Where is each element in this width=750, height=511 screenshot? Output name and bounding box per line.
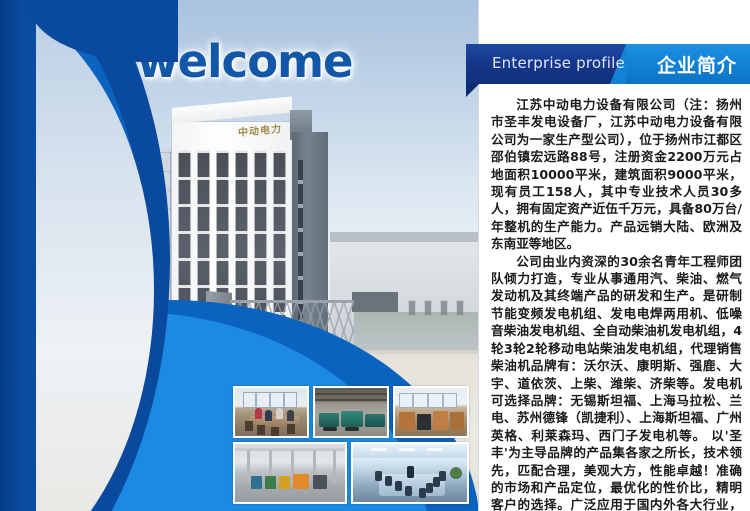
left-navy-band	[0, 0, 36, 511]
banner-corner-tail	[466, 84, 479, 97]
panel-top-spacer	[479, 0, 750, 40]
warehouse-roof	[330, 232, 478, 242]
photo-collage	[233, 386, 469, 504]
company-profile-banner: 中动电力 江苏中动电力设备有限公司 Zhongdong Power Equipm…	[0, 0, 750, 511]
warehouse-door	[352, 292, 398, 312]
training-room-photo	[233, 386, 309, 438]
conference-room-photo	[351, 442, 469, 504]
profile-paragraph-1: 江苏中动电力设备有限公司（注：扬州市圣丰发电设备厂，江苏中动电力设备有限公司为一…	[491, 96, 742, 253]
warehouse-photo	[233, 442, 347, 504]
profile-body-text: 江苏中动电力设备有限公司（注：扬州市圣丰发电设备厂，江苏中动电力设备有限公司为一…	[491, 96, 742, 511]
profile-paragraph-2: 公司由业内资深的30余名青年工程师团队倾力打造，专业从事通用汽、柴油、燃气发动机…	[491, 253, 742, 511]
banner-english-label: Enterprise profile	[492, 54, 625, 72]
office-photo	[393, 386, 469, 438]
banner-chinese-label: 企业简介	[657, 51, 737, 78]
treeline	[354, 312, 478, 354]
section-header-banner: Enterprise profile 企业简介	[466, 44, 750, 84]
fence-rail	[230, 300, 354, 303]
hero-photo-area: 中动电力 江苏中动电力设备有限公司 Zhongdong Power Equipm…	[0, 0, 478, 511]
generator-factory-photo	[313, 386, 389, 438]
enterprise-profile-panel: Enterprise profile 企业简介 江苏中动电力设备有限公司（注：扬…	[478, 0, 750, 511]
